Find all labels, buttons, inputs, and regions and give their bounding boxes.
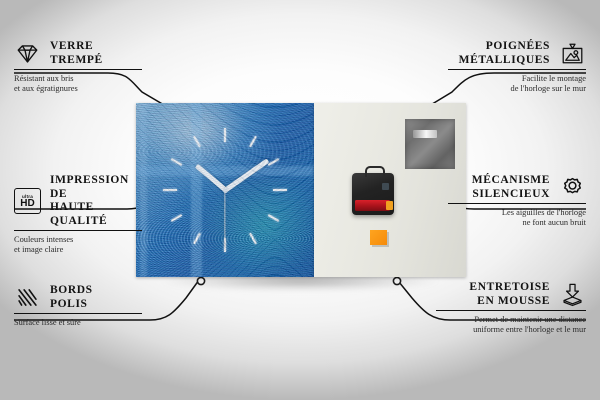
battery bbox=[355, 200, 390, 211]
callout-subtitle: Permet de maintenir une distanceuniforme… bbox=[436, 311, 586, 336]
callout-impression-haute-qualite: ultra HD IMPRESSION DEHAUTE QUALITÉ Coul… bbox=[14, 174, 142, 256]
callout-verre-trempe: VERRETREMPÉ Résistant aux briset aux égr… bbox=[14, 40, 142, 95]
callout-header: VERRETREMPÉ bbox=[14, 40, 142, 67]
clock-front-panel bbox=[136, 103, 314, 277]
hour-hand bbox=[194, 164, 226, 192]
callout-subtitle: Les aiguilles de l'horlogene font aucun … bbox=[448, 204, 586, 229]
callout-header: ENTRETOISEEN MOUSSE bbox=[436, 281, 586, 308]
callout-title: ENTRETOISEEN MOUSSE bbox=[469, 281, 550, 308]
callout-title: BORDSPOLIS bbox=[50, 284, 93, 311]
callout-header: BORDSPOLIS bbox=[14, 284, 142, 311]
callout-header: MÉCANISMESILENCIEUX bbox=[448, 174, 586, 201]
callout-poignees-metalliques: POIGNÉESMÉTALLIQUES Facilite le montaged… bbox=[448, 40, 586, 95]
callout-subtitle: Résistant aux briset aux égratignures bbox=[14, 70, 142, 95]
pattern-line-b bbox=[191, 103, 202, 277]
diagonal-lines-icon bbox=[14, 284, 41, 311]
framed-picture-icon bbox=[559, 40, 586, 67]
pattern-line-c bbox=[136, 166, 314, 176]
product-image bbox=[136, 103, 466, 277]
foam-spacer-icon bbox=[559, 281, 586, 308]
minute-hand bbox=[224, 158, 269, 192]
ultra-hd-icon: ultra HD bbox=[14, 188, 41, 214]
hands-cap bbox=[223, 188, 228, 193]
callout-title: POIGNÉESMÉTALLIQUES bbox=[459, 40, 550, 67]
second-hand bbox=[224, 190, 225, 248]
clock-back-panel bbox=[314, 103, 466, 277]
callout-subtitle: Surface lisse et sûre bbox=[14, 314, 142, 328]
callout-title: IMPRESSION DEHAUTE QUALITÉ bbox=[50, 174, 142, 228]
callout-subtitle: Facilite le montagede l'horloge sur le m… bbox=[448, 70, 586, 95]
callout-entretoise-en-mousse: ENTRETOISEEN MOUSSE Permet de maintenir … bbox=[436, 281, 586, 336]
ultra-hd-large-text: HD bbox=[20, 199, 34, 209]
callout-title: VERRETREMPÉ bbox=[50, 40, 103, 67]
diamond-icon bbox=[14, 40, 41, 67]
clock-face bbox=[136, 103, 314, 277]
callout-subtitle: Couleurs intenseset image claire bbox=[14, 231, 142, 256]
mechanism-detail bbox=[382, 183, 389, 190]
foam-spacer bbox=[370, 230, 387, 245]
metal-hanger-plate bbox=[405, 119, 455, 169]
infographic-canvas: VERRETREMPÉ Résistant aux briset aux égr… bbox=[0, 0, 600, 400]
gear-icon bbox=[559, 174, 586, 201]
callout-header: ultra HD IMPRESSION DEHAUTE QUALITÉ bbox=[14, 174, 142, 228]
callout-header: POIGNÉESMÉTALLIQUES bbox=[448, 40, 586, 67]
callout-title: MÉCANISMESILENCIEUX bbox=[472, 174, 550, 201]
clock-mechanism bbox=[352, 173, 394, 215]
callout-bords-polis: BORDSPOLIS Surface lisse et sûre bbox=[14, 284, 142, 328]
callout-mecanisme-silencieux: MÉCANISMESILENCIEUX Les aiguilles de l'h… bbox=[448, 174, 586, 229]
